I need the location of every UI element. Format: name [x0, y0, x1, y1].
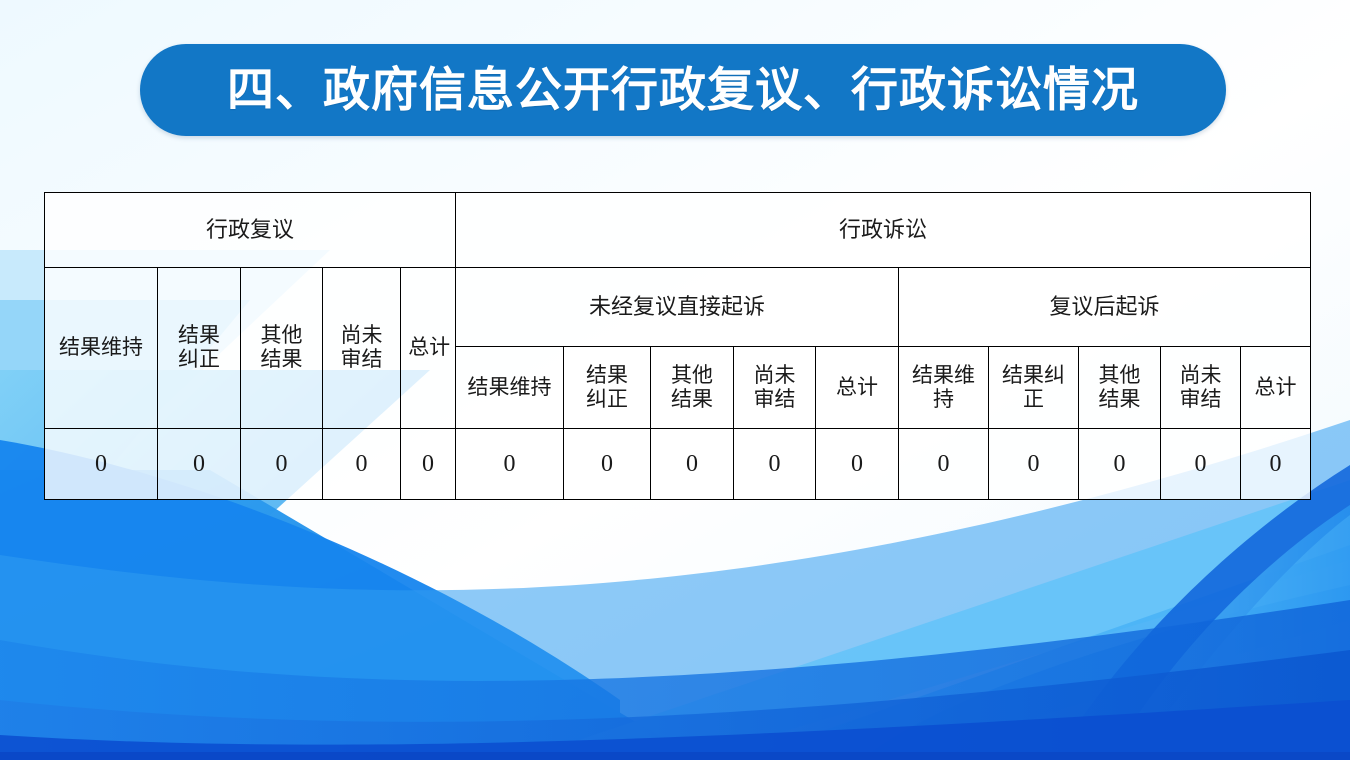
subgroup-header-after-reconsideration: 复议后起诉	[899, 268, 1311, 347]
column-header-recon-pending-line2: 审结	[336, 348, 386, 372]
column-header-recon-pending-line1: 尚未	[336, 324, 386, 348]
column-header-after-pending: 尚未 审结	[1161, 347, 1241, 429]
disclosure-statistics-table: 行政复议 行政诉讼 结果维持 结果 纠正 其他 结果 尚未 审结	[44, 192, 1311, 500]
table-row-subgroups: 结果维持 结果 纠正 其他 结果 尚未 审结 总计 未经复议直接起诉 复议后起诉	[45, 268, 1311, 347]
column-header-after-result-upheld: 结果维 持	[899, 347, 989, 429]
column-header-direct-other-result: 其他 结果	[651, 347, 734, 429]
column-header-recon-other-result-line1: 其他	[256, 324, 306, 348]
column-header-after-other-result: 其他 结果	[1079, 347, 1161, 429]
column-header-direct-result-upheld: 结果维持	[456, 347, 564, 429]
subgroup-header-direct-suit: 未经复议直接起诉	[456, 268, 899, 347]
slide-title-banner: 四、政府信息公开行政复议、行政诉讼情况	[140, 44, 1226, 136]
group-header-administrative-litigation: 行政诉讼	[456, 193, 1311, 268]
value-after-pending: 0	[1161, 429, 1241, 500]
column-header-recon-pending: 尚未 审结	[323, 268, 401, 429]
column-header-recon-result-corrected: 结果 纠正	[158, 268, 241, 429]
group-header-administrative-reconsideration: 行政复议	[45, 193, 456, 268]
value-after-total: 0	[1241, 429, 1311, 500]
value-recon-pending: 0	[323, 429, 401, 500]
value-recon-total: 0	[401, 429, 456, 500]
value-recon-other-result: 0	[241, 429, 323, 500]
column-header-recon-other-result: 其他 结果	[241, 268, 323, 429]
column-header-direct-result-corrected: 结果 纠正	[564, 347, 651, 429]
value-direct-pending: 0	[734, 429, 816, 500]
column-header-recon-total: 总计	[401, 268, 456, 429]
column-header-after-result-corrected: 结果纠 正	[989, 347, 1079, 429]
value-recon-result-corrected: 0	[158, 429, 241, 500]
value-after-result-upheld: 0	[899, 429, 989, 500]
column-header-direct-total: 总计	[816, 347, 899, 429]
value-direct-other-result: 0	[651, 429, 734, 500]
value-after-result-corrected: 0	[989, 429, 1079, 500]
column-header-recon-other-result-line2: 结果	[256, 348, 306, 372]
value-direct-result-corrected: 0	[564, 429, 651, 500]
column-header-after-total: 总计	[1241, 347, 1311, 429]
column-header-direct-pending: 尚未 审结	[734, 347, 816, 429]
column-header-recon-result-corrected-line1: 结果	[174, 324, 224, 348]
column-header-recon-result-upheld: 结果维持	[45, 268, 158, 429]
page-title: 四、政府信息公开行政复议、行政诉讼情况	[227, 67, 1139, 114]
value-direct-result-upheld: 0	[456, 429, 564, 500]
table-row-data: 0 0 0 0 0 0 0 0 0 0 0 0 0 0 0	[45, 429, 1311, 500]
column-header-recon-result-corrected-line2: 纠正	[174, 348, 224, 372]
value-recon-result-upheld: 0	[45, 429, 158, 500]
value-after-other-result: 0	[1079, 429, 1161, 500]
value-direct-total: 0	[816, 429, 899, 500]
table-row-top-groups: 行政复议 行政诉讼	[45, 193, 1311, 268]
slide-canvas: 四、政府信息公开行政复议、行政诉讼情况 行政复议 行政诉讼 结果维持 结果 纠正	[0, 0, 1350, 760]
